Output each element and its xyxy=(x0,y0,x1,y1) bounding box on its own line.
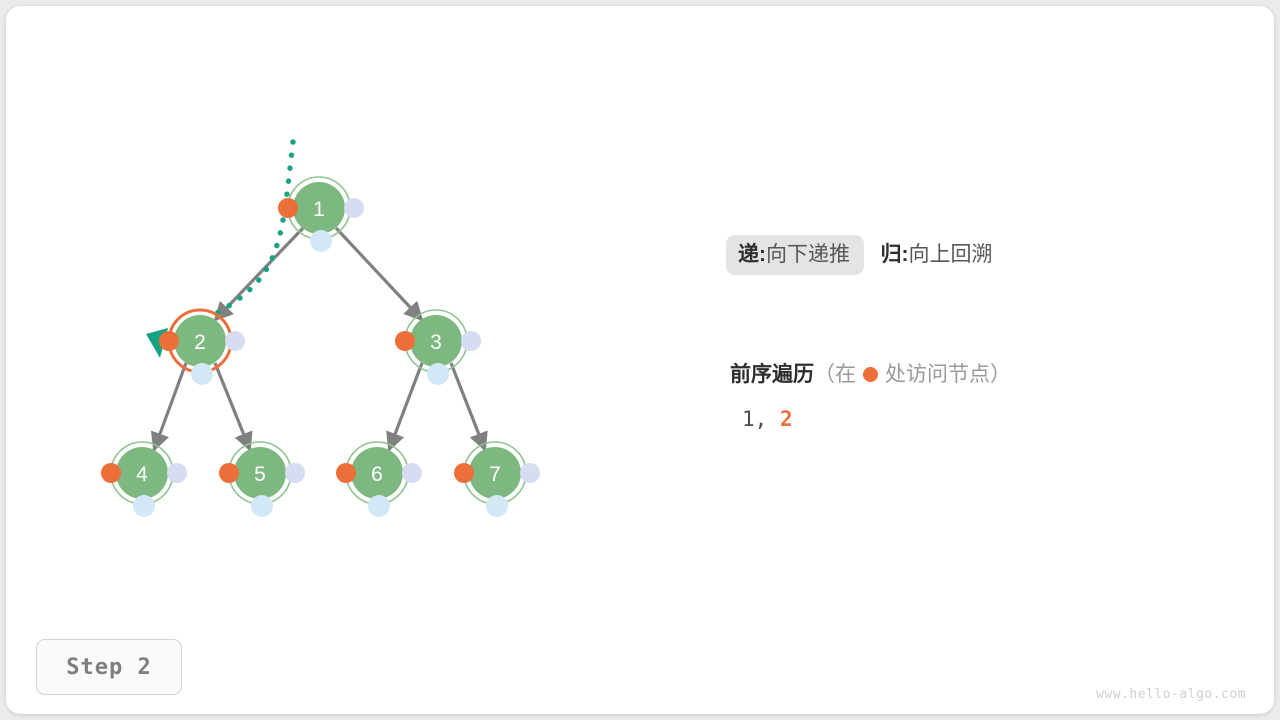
node-visit-dot xyxy=(101,463,121,483)
node-visit-dot xyxy=(336,463,356,483)
watermark: www.hello-algo.com xyxy=(1096,687,1246,702)
tree-node-3[interactable]: 3 xyxy=(395,310,481,385)
legend-panel: 递:向下递推 归:向上回溯 xyxy=(726,232,1246,275)
node-bottom-dot xyxy=(368,495,390,517)
node-right-dot xyxy=(461,331,481,351)
legend-recurse-key: 递: xyxy=(738,243,766,266)
node-right-dot xyxy=(344,198,364,218)
traversal-title-row: 前序遍历 （在 处访问节点） xyxy=(730,364,1250,385)
traversal-visited: 1, xyxy=(742,407,767,431)
tree-node-7[interactable]: 7 xyxy=(454,442,540,517)
edge-n1-n3 xyxy=(336,228,422,320)
step-badge-label: Step 2 xyxy=(66,655,151,680)
tree-node-6[interactable]: 6 xyxy=(336,442,422,517)
node-bottom-dot xyxy=(251,495,273,517)
node-visit-dot xyxy=(278,198,298,218)
node-bottom-dot xyxy=(310,230,332,252)
tree-node-2[interactable]: 2 xyxy=(159,310,245,385)
node-right-dot xyxy=(520,463,540,483)
node-bottom-dot xyxy=(486,495,508,517)
node-label: 1 xyxy=(313,198,325,221)
tree-node-5[interactable]: 5 xyxy=(219,442,305,517)
legend-recurse-value: 向下递推 xyxy=(766,243,850,266)
traversal-title: 前序遍历 xyxy=(730,364,814,385)
node-visit-dot xyxy=(454,463,474,483)
node-visit-dot xyxy=(219,463,239,483)
node-right-dot xyxy=(402,463,422,483)
traversal-note-prefix: （在 xyxy=(814,364,856,385)
traversal-note-suffix: 处访问节点） xyxy=(885,364,1011,385)
edge-n3-n7 xyxy=(451,363,485,450)
recursion-path-dotted xyxy=(164,142,293,338)
legend-return-value: 向上回溯 xyxy=(908,243,992,266)
legend-return-key: 归: xyxy=(880,243,908,266)
node-bottom-dot xyxy=(427,363,449,385)
legend-recurse-row: 递:向下递推 xyxy=(726,235,864,275)
step-badge: Step 2 xyxy=(36,639,182,695)
node-label: 5 xyxy=(254,463,266,486)
legend-return-row: 归:向上回溯 xyxy=(868,235,1006,275)
traversal-sequence: 1, 2 xyxy=(742,407,1250,431)
node-visit-dot xyxy=(395,331,415,351)
visit-marker-dot xyxy=(863,367,878,382)
node-right-dot xyxy=(225,331,245,351)
node-label: 3 xyxy=(430,331,442,354)
edge-n3-n6 xyxy=(389,363,422,450)
binary-tree-diagram: 1234567 xyxy=(0,0,1280,720)
node-label: 6 xyxy=(371,463,383,486)
traversal-current: 2 xyxy=(780,407,793,431)
tree-nodes: 1234567 xyxy=(101,177,540,517)
traversal-order-panel: 前序遍历 （在 处访问节点） 1, 2 xyxy=(730,364,1250,431)
node-bottom-dot xyxy=(133,495,155,517)
node-visit-dot xyxy=(159,331,179,351)
tree-node-4[interactable]: 4 xyxy=(101,442,187,517)
node-right-dot xyxy=(167,463,187,483)
node-label: 2 xyxy=(194,331,206,354)
node-bottom-dot xyxy=(191,363,213,385)
node-label: 4 xyxy=(136,463,148,486)
page-root: 1234567 递:向下递推 归:向上回溯 前序遍历 （在 处访问节点） 1, … xyxy=(0,0,1280,720)
edge-n2-n4 xyxy=(154,363,186,450)
edge-n2-n5 xyxy=(215,363,250,450)
node-label: 7 xyxy=(489,463,501,486)
node-right-dot xyxy=(285,463,305,483)
watermark-text: www.hello-algo.com xyxy=(1096,687,1246,702)
